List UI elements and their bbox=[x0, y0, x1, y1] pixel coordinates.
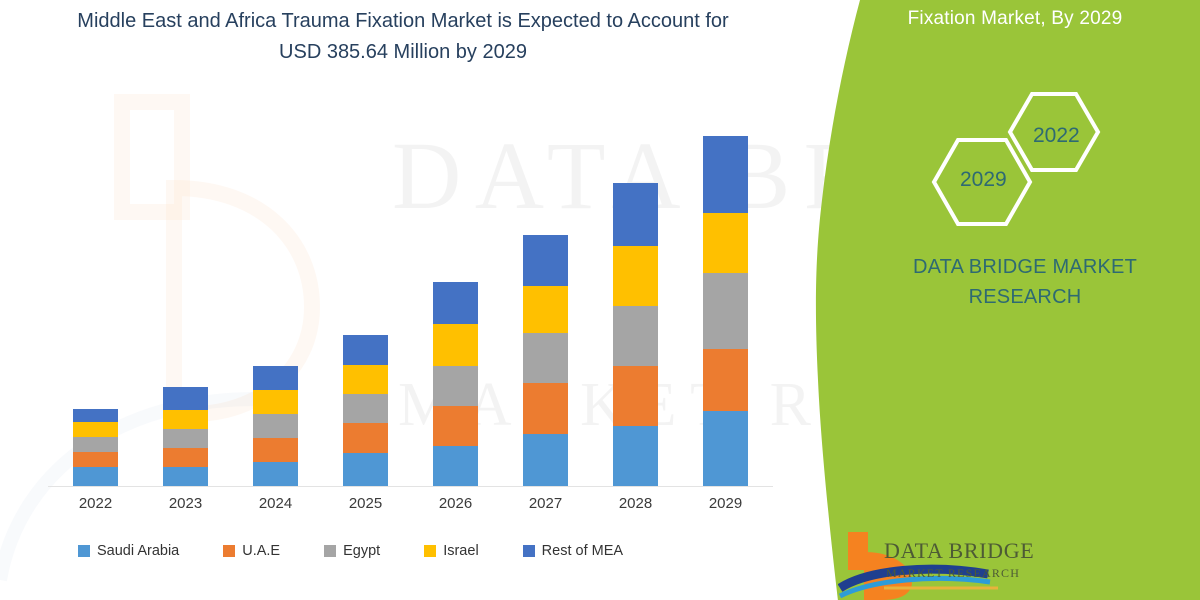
legend-swatch-icon bbox=[424, 545, 436, 557]
panel-title: Fixation Market, By 2029 bbox=[845, 8, 1185, 30]
bar-segment[interactable] bbox=[163, 448, 208, 467]
bar-segment[interactable] bbox=[343, 365, 388, 394]
bar-segment[interactable] bbox=[253, 390, 298, 414]
bar-segment[interactable] bbox=[433, 366, 478, 406]
hexagon-2029-label: 2029 bbox=[960, 168, 1007, 192]
bar-column[interactable] bbox=[613, 183, 658, 486]
bar-segment[interactable] bbox=[163, 387, 208, 410]
bar-segment[interactable] bbox=[523, 235, 568, 286]
bar-segment[interactable] bbox=[73, 409, 118, 422]
x-axis-tick-label: 2028 bbox=[613, 495, 658, 512]
brand-name: DATA BRIDGE MARKET RESEARCH bbox=[860, 252, 1190, 312]
bar-segment[interactable] bbox=[343, 423, 388, 453]
bar-segment[interactable] bbox=[613, 183, 658, 246]
legend-item[interactable]: Israel bbox=[424, 543, 478, 559]
chart-region: Middle East and Africa Trauma Fixation M… bbox=[0, 0, 790, 600]
legend-swatch-icon bbox=[78, 545, 90, 557]
bar-segment[interactable] bbox=[73, 422, 118, 437]
bar-segment[interactable] bbox=[163, 410, 208, 429]
hexagon-pair bbox=[920, 90, 1130, 230]
legend-swatch-icon bbox=[223, 545, 235, 557]
brand-name-line-1: DATA BRIDGE MARKET bbox=[913, 256, 1137, 278]
bar-segment[interactable] bbox=[523, 383, 568, 434]
bar-segment[interactable] bbox=[253, 462, 298, 486]
legend-item[interactable]: Rest of MEA bbox=[523, 543, 623, 559]
legend-item[interactable]: Egypt bbox=[324, 543, 380, 559]
bar-segment[interactable] bbox=[703, 273, 748, 349]
bar-segment[interactable] bbox=[253, 414, 298, 438]
bar-column[interactable] bbox=[523, 235, 568, 486]
legend-label: Rest of MEA bbox=[542, 543, 623, 559]
bar-segment[interactable] bbox=[613, 246, 658, 306]
x-axis-tick-label: 2022 bbox=[73, 495, 118, 512]
x-axis-tick-label: 2027 bbox=[523, 495, 568, 512]
legend-item[interactable]: U.A.E bbox=[223, 543, 280, 559]
bar-segment[interactable] bbox=[523, 286, 568, 333]
hexagon-icons bbox=[920, 90, 1130, 230]
bar-plot bbox=[0, 110, 790, 486]
bar-segment[interactable] bbox=[433, 406, 478, 446]
bar-column[interactable] bbox=[73, 409, 118, 486]
page-title: Middle East and Africa Trauma Fixation M… bbox=[58, 6, 748, 68]
legend-label: Saudi Arabia bbox=[97, 543, 179, 559]
bar-segment[interactable] bbox=[703, 213, 748, 273]
bar-column[interactable] bbox=[253, 366, 298, 486]
x-axis-tick-label: 2029 bbox=[703, 495, 748, 512]
logo-name: DATA BRIDGE bbox=[884, 538, 1034, 564]
bar-segment[interactable] bbox=[73, 452, 118, 467]
bar-segment[interactable] bbox=[523, 434, 568, 486]
bar-segment[interactable] bbox=[343, 394, 388, 423]
infographic-root: DATA BRIDGE MARKET RESEARCH Middle East … bbox=[0, 0, 1200, 600]
legend-item[interactable]: Saudi Arabia bbox=[78, 543, 179, 559]
bar-segment[interactable] bbox=[433, 324, 478, 366]
chart-legend: Saudi ArabiaU.A.EEgyptIsraelRest of MEA bbox=[78, 538, 667, 564]
bar-segment[interactable] bbox=[163, 467, 208, 486]
bar-segment[interactable] bbox=[343, 335, 388, 365]
bar-column[interactable] bbox=[343, 335, 388, 486]
bar-column[interactable] bbox=[703, 136, 748, 486]
hexagon-2022-label: 2022 bbox=[1033, 124, 1080, 148]
bar-segment[interactable] bbox=[703, 349, 748, 411]
legend-label: U.A.E bbox=[242, 543, 280, 559]
brand-name-line-2: RESEARCH bbox=[969, 286, 1082, 308]
bar-segment[interactable] bbox=[433, 446, 478, 486]
bar-segment[interactable] bbox=[73, 437, 118, 452]
x-axis-tick-label: 2024 bbox=[253, 495, 298, 512]
bar-segment[interactable] bbox=[613, 426, 658, 486]
bar-segment[interactable] bbox=[163, 429, 208, 448]
legend-swatch-icon bbox=[324, 545, 336, 557]
bar-segment[interactable] bbox=[613, 366, 658, 426]
x-axis-tick-label: 2023 bbox=[163, 495, 208, 512]
bar-segment[interactable] bbox=[343, 453, 388, 486]
legend-label: Egypt bbox=[343, 543, 380, 559]
bar-segment[interactable] bbox=[253, 438, 298, 462]
bar-column[interactable] bbox=[433, 282, 478, 486]
bar-segment[interactable] bbox=[433, 282, 478, 324]
logo-tagline: MARKET RESEARCH bbox=[886, 566, 1020, 581]
bar-segment[interactable] bbox=[73, 467, 118, 486]
bar-segment[interactable] bbox=[703, 411, 748, 486]
bar-segment[interactable] bbox=[613, 306, 658, 366]
x-axis-tick-label: 2026 bbox=[433, 495, 478, 512]
bar-segment[interactable] bbox=[523, 333, 568, 383]
x-axis-labels: 20222023202420252026202720282029 bbox=[0, 495, 790, 523]
x-axis-tick-label: 2025 bbox=[343, 495, 388, 512]
legend-label: Israel bbox=[443, 543, 478, 559]
legend-swatch-icon bbox=[523, 545, 535, 557]
x-axis-line bbox=[48, 486, 773, 487]
bar-column[interactable] bbox=[163, 387, 208, 486]
bar-segment[interactable] bbox=[253, 366, 298, 390]
bar-segment[interactable] bbox=[703, 136, 748, 213]
